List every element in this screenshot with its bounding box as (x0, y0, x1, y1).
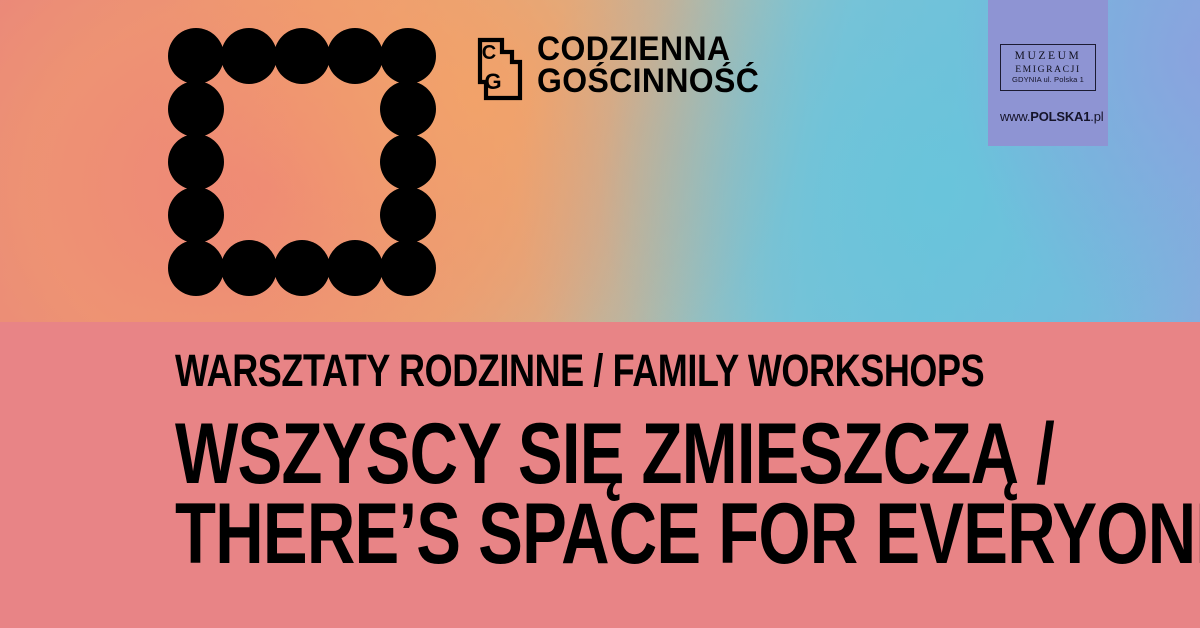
svg-text:C: C (482, 42, 496, 64)
brand-title-line-2: GOŚCINNOŚĆ (537, 66, 759, 98)
svg-text:G: G (484, 69, 501, 94)
headline-text: WSZYSCY SIĘ ZMIESZCZĄ / THERE’S SPACE FO… (175, 415, 943, 575)
museum-logo-box: MUZEUM EMIGRACJI GDYNIA ul. Polska 1 (1000, 44, 1096, 91)
logo-dot (380, 187, 436, 243)
logo-dot (327, 240, 383, 296)
museum-name-line-1: MUZEUM (1015, 51, 1082, 63)
url-tld: .pl (1090, 109, 1103, 124)
headline-line-1: WSZYSCY SIĘ ZMIESZCZĄ / (175, 415, 943, 495)
eyebrow-text: WARSZTATY RODZINNE / FAMILY WORKSHOPS (175, 348, 963, 393)
logo-dot (221, 240, 277, 296)
logo-dot (327, 28, 383, 84)
logo-dot (274, 28, 330, 84)
museum-website-url[interactable]: www.POLSKA1.pl (1000, 110, 1096, 123)
cg-house-monogram-icon: C G (476, 36, 524, 102)
logo-dot (380, 240, 436, 296)
headline-band-content: WARSZTATY RODZINNE / FAMILY WORKSHOPS WS… (175, 322, 1160, 575)
url-domain: POLSKA1 (1030, 109, 1090, 124)
logo-dot (380, 134, 436, 190)
logo-dot (380, 81, 436, 137)
logo-dot (168, 187, 224, 243)
logo-dot (274, 240, 330, 296)
headline-band: WARSZTATY RODZINNE / FAMILY WORKSHOPS WS… (0, 322, 1200, 628)
logo-dot (168, 240, 224, 296)
logo-dot (168, 81, 224, 137)
headline-line-2: THERE’S SPACE FOR EVERYONE (175, 495, 943, 575)
dotted-square-logo (168, 28, 436, 296)
logo-dot (168, 28, 224, 84)
codzienna-goscinnosc-logo: C G CODZIENNA GOŚCINNOŚĆ (476, 34, 773, 102)
codzienna-goscinnosc-wordmark: CODZIENNA GOŚCINNOŚĆ (537, 34, 773, 97)
museum-address: GDYNIA ul. Polska 1 (1012, 76, 1084, 84)
promo-poster: C G CODZIENNA GOŚCINNOŚĆ MUZEUM EMIGRACJ… (0, 0, 1200, 628)
logo-dot (168, 134, 224, 190)
muzeum-emigracji-logo-panel: MUZEUM EMIGRACJI GDYNIA ul. Polska 1 www… (988, 0, 1108, 146)
url-prefix: www. (1000, 109, 1030, 124)
logo-dot (221, 28, 277, 84)
logo-dot (380, 28, 436, 84)
museum-name-line-2: EMIGRACJI (1015, 65, 1081, 75)
